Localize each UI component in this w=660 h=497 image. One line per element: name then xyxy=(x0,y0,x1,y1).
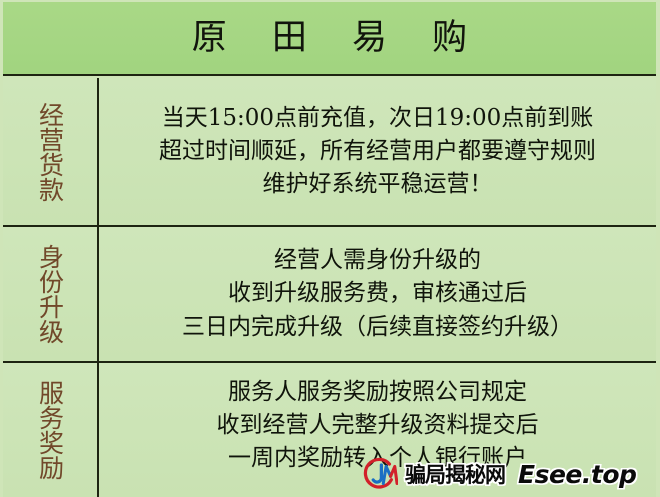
content-line: 当天15:00点前充值，次日19:00点前到账 xyxy=(162,102,594,135)
content-line: 收到经营人完整升级资料提交后 xyxy=(217,409,539,442)
content-line: 经营人需身份升级的 xyxy=(274,244,481,277)
content-line: 收到升级服务费，审核通过后 xyxy=(228,277,527,310)
table-row: 经营货款 当天15:00点前充值，次日19:00点前到账 超过时间顺延，所有经营… xyxy=(3,78,656,227)
content-line: 超过时间顺延，所有经营用户都要遵守规则 xyxy=(159,135,596,168)
row-label: 身份升级 xyxy=(34,244,67,344)
promo-poster: 原 田 易 购 经营货款 当天15:00点前充值，次日19:00点前到账 超过时… xyxy=(0,0,660,497)
row-label-cell: 经营货款 xyxy=(3,78,99,225)
content-line: 服务人服务奖励按照公司规定 xyxy=(228,376,527,409)
content-line: 维护好系统平稳运营！ xyxy=(263,168,493,201)
row-label-cell: 身份升级 xyxy=(3,227,99,361)
row-content-cell: 当天15:00点前充值，次日19:00点前到账 超过时间顺延，所有经营用户都要遵… xyxy=(99,78,656,225)
rules-table: 经营货款 当天15:00点前充值，次日19:00点前到账 超过时间顺延，所有经营… xyxy=(3,78,656,497)
row-label: 经营货款 xyxy=(34,102,67,202)
row-label: 服务奖励 xyxy=(34,380,67,480)
row-label-cell: 服务奖励 xyxy=(3,363,99,497)
content-line: 三日内完成升级（后续直接签约升级） xyxy=(182,311,573,344)
table-row: 服务奖励 服务人服务奖励按照公司规定 收到经营人完整升级资料提交后 一周内奖励转… xyxy=(3,363,656,497)
row-content-cell: 经营人需身份升级的 收到升级服务费，审核通过后 三日内完成升级（后续直接签约升级… xyxy=(99,227,656,361)
poster-header: 原 田 易 购 xyxy=(3,2,656,76)
row-content-cell: 服务人服务奖励按照公司规定 收到经营人完整升级资料提交后 一周内奖励转入个人银行… xyxy=(99,363,656,497)
table-row: 身份升级 经营人需身份升级的 收到升级服务费，审核通过后 三日内完成升级（后续直… xyxy=(3,227,656,363)
content-line: 一周内奖励转入个人银行账户 xyxy=(228,442,527,475)
page-title: 原 田 易 购 xyxy=(175,21,484,56)
